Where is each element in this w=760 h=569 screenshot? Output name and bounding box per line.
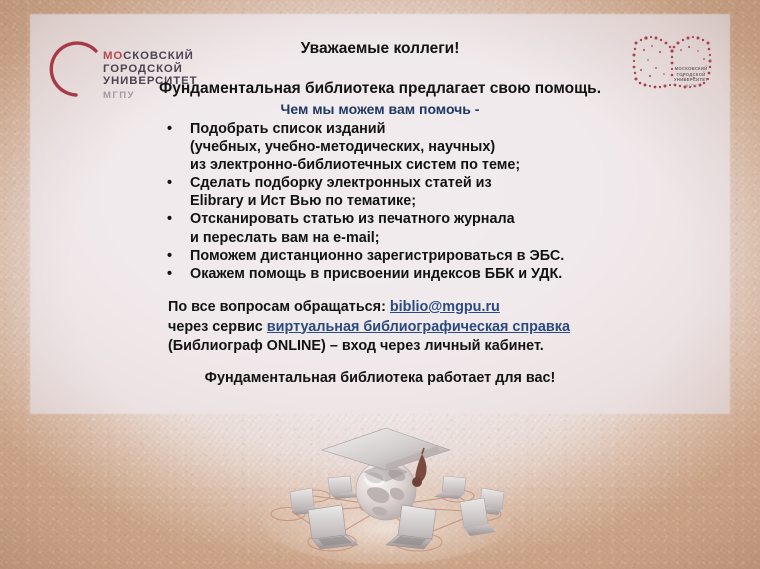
services-bullet-list: • Подобрать список изданий (учебных, уче… [164, 120, 594, 283]
list-item-line: и переслать вам на e-mail; [190, 229, 594, 247]
contact-block: По все вопросам обращаться: biblio@mgpu.… [168, 298, 570, 357]
virtual-reference-service-link[interactable]: виртуальная библиографическая справка [267, 319, 570, 335]
list-item: • Сделать подборку электронных статей из… [164, 174, 594, 210]
bullet-marker-icon: • [167, 210, 172, 228]
list-item: • Поможем дистанционно зарегистрироватьс… [164, 247, 594, 265]
list-item-line: (учебных, учебно-методических, научных) [190, 138, 594, 156]
email-link[interactable]: biblio@mgpu.ru [390, 299, 500, 315]
list-item-line: Elibrarу и Ист Вью по тематике; [190, 192, 594, 210]
bullet-marker-icon: • [167, 120, 172, 138]
mgpu-emblem-line-1: МОСКОВСКИЙ [674, 66, 708, 72]
list-item-line: Подобрать список изданий [190, 120, 594, 138]
slide-closing-statement: Фундаментальная библиотека работает для … [0, 370, 760, 386]
mgpu-wordmark-line-2: ГОРОДСКОЙ [103, 63, 197, 76]
list-item-line: Сделать подборку электронных статей из [190, 174, 594, 192]
slide-subheading: Фундаментальная библиотека предлагает св… [0, 80, 760, 98]
contact-line-service: через сервис виртуальная библиографическ… [168, 318, 570, 338]
contact-email-prefix: По все вопросам обращаться: [168, 299, 390, 315]
list-item-line: Отсканировать статью из печатного журнал… [190, 210, 594, 228]
slide-canvas: МОСКОВСКИЙ ГОРОДСКОЙ УНИВЕРСИТЕТ МГПУ [0, 0, 760, 569]
list-item: • Отсканировать статью из печатного журн… [164, 210, 594, 246]
slide-heading: Уважаемые коллеги! [0, 40, 760, 58]
list-item-line: из электронно-библиотечных систем по тем… [190, 156, 594, 174]
contact-line-note: (Библиограф ONLINE) – вход через личный … [168, 337, 570, 357]
globe-graduation-laptops-graphic [262, 408, 510, 568]
list-item: • Подобрать список изданий (учебных, уче… [164, 120, 594, 174]
list-item-line: Поможем дистанционно зарегистрироваться … [190, 247, 594, 265]
contact-line-email: По все вопросам обращаться: biblio@mgpu.… [168, 298, 570, 318]
bullet-marker-icon: • [167, 247, 172, 265]
slide-tagline: Чем мы можем вам помочь - [0, 101, 760, 117]
list-item-line: Окажем помощь в присвоении индексов ББК … [190, 265, 594, 283]
contact-service-prefix: через сервис [168, 319, 267, 335]
bullet-marker-icon: • [167, 265, 172, 283]
globe-network-illustration [262, 408, 510, 568]
bullet-marker-icon: • [167, 174, 172, 192]
list-item: • Окажем помощь в присвоении индексов ББ… [164, 265, 594, 283]
